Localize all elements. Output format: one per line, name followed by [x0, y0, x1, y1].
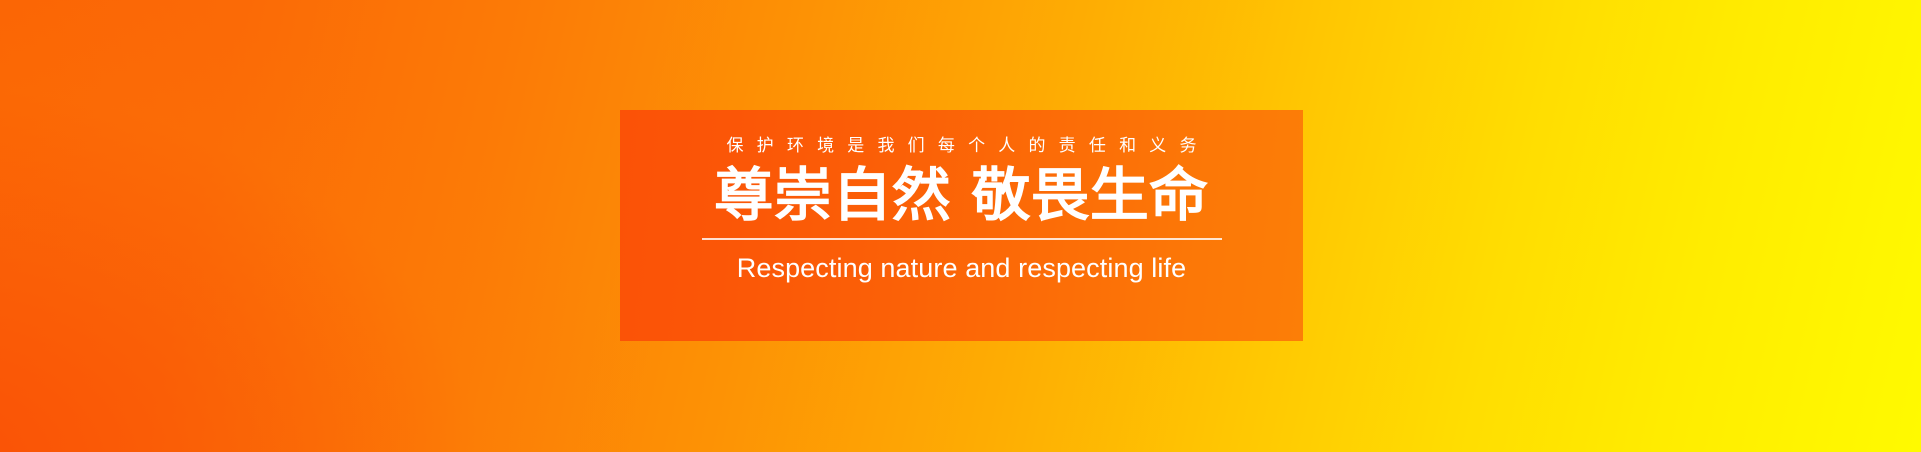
banner-headline: 尊崇自然 敬畏生命	[715, 165, 1209, 226]
environmental-banner: 保护环境是我们每个人的责任和义务 尊崇自然 敬畏生命 Respecting na…	[0, 0, 1921, 452]
banner-divider	[702, 238, 1222, 240]
banner-tagline: 保护环境是我们每个人的责任和义务	[713, 137, 1209, 156]
banner-content-panel: 保护环境是我们每个人的责任和义务 尊崇自然 敬畏生命 Respecting na…	[620, 110, 1303, 341]
banner-subtitle: Respecting nature and respecting life	[737, 254, 1186, 284]
